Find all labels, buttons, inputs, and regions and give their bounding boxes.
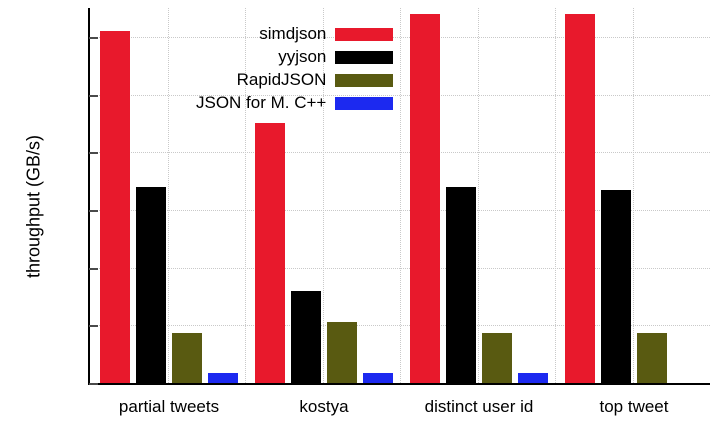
y-axis-tick (89, 37, 98, 39)
bar (327, 322, 357, 383)
bar (482, 333, 512, 383)
legend-item: simdjson (196, 24, 393, 44)
x-axis-category-label: top tweet (600, 397, 669, 417)
plot-area: 0.00.51.01.52.02.53.0partial tweetskosty… (88, 8, 710, 385)
bar (410, 14, 440, 383)
y-axis-title: throughput (GB/s) (24, 87, 45, 327)
gridline-vertical-minor (633, 8, 634, 383)
chart-legend: simdjsonyyjsonRapidJSONJSON for M. C++ (196, 24, 393, 113)
legend-color-swatch (335, 74, 393, 87)
bar (100, 31, 130, 383)
x-axis-category-label: kostya (299, 397, 348, 417)
bar (208, 373, 238, 383)
legend-color-swatch (335, 51, 393, 64)
y-axis-tick (89, 95, 98, 97)
bar (363, 373, 393, 383)
legend-item: RapidJSON (196, 70, 393, 90)
x-axis-category-label: distinct user id (425, 397, 534, 417)
bar (637, 333, 667, 383)
bar (255, 123, 285, 383)
x-axis-category-label: partial tweets (119, 397, 219, 417)
bar (565, 14, 595, 383)
gridline-vertical-minor (478, 8, 479, 383)
bar (601, 190, 631, 383)
gridline-vertical (555, 8, 556, 383)
bar (518, 373, 548, 383)
y-axis-tick (89, 152, 98, 154)
legend-item: JSON for M. C++ (196, 93, 393, 113)
bar (291, 291, 321, 383)
legend-color-swatch (335, 28, 393, 41)
legend-color-swatch (335, 97, 393, 110)
legend-label: yyjson (278, 47, 326, 67)
bar (446, 187, 476, 383)
y-axis-tick (89, 383, 98, 385)
legend-label: RapidJSON (237, 70, 327, 90)
legend-label: JSON for M. C++ (196, 93, 326, 113)
legend-item: yyjson (196, 47, 393, 67)
y-axis-tick (89, 325, 98, 327)
y-axis-tick (89, 210, 98, 212)
gridline-vertical-minor (168, 8, 169, 383)
gridline-vertical (400, 8, 401, 383)
chart-root: throughput (GB/s) 0.00.51.01.52.02.53.0p… (0, 0, 720, 432)
bar (136, 187, 166, 383)
legend-label: simdjson (259, 24, 326, 44)
y-axis-tick (89, 268, 98, 270)
bar (172, 333, 202, 383)
